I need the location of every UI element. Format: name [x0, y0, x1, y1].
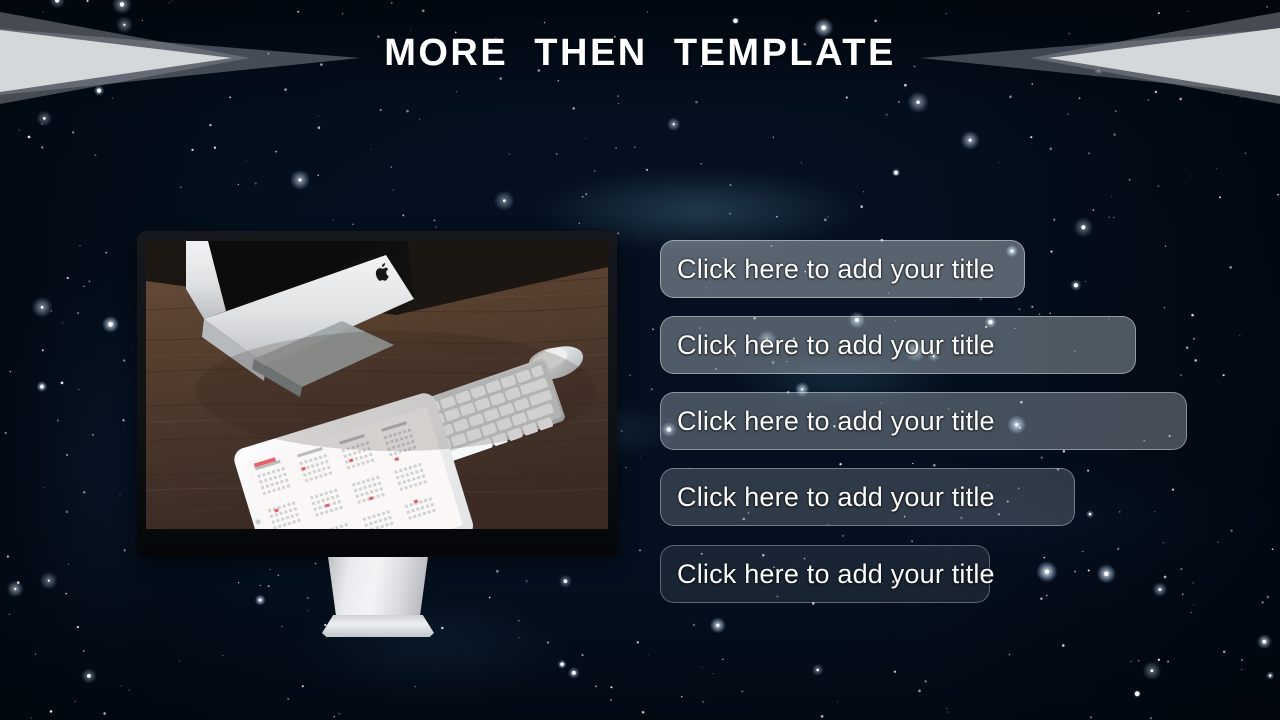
content-box-label: Click here to add your title: [677, 559, 995, 590]
desktop-monitor-mockup: [137, 231, 617, 557]
content-box-3[interactable]: Click here to add your title: [660, 392, 1187, 450]
presentation-slide: MORE THEN TEMPLATE: [0, 0, 1280, 720]
content-box-label: Click here to add your title: [677, 406, 995, 437]
monitor-stand-neck: [326, 557, 430, 619]
content-box-2[interactable]: Click here to add your title: [660, 316, 1136, 374]
monitor-stand-base: [322, 615, 434, 637]
monitor-screen: [146, 241, 608, 529]
content-box-5[interactable]: Click here to add your title: [660, 545, 990, 603]
slide-title: MORE THEN TEMPLATE: [0, 32, 1280, 75]
content-box-label: Click here to add your title: [677, 482, 995, 513]
monitor-stand: [322, 557, 434, 637]
content-box-4[interactable]: Click here to add your title: [660, 468, 1075, 526]
content-box-label: Click here to add your title: [677, 330, 995, 361]
content-box-label: Click here to add your title: [677, 254, 995, 285]
content-box-1[interactable]: Click here to add your title: [660, 240, 1025, 298]
